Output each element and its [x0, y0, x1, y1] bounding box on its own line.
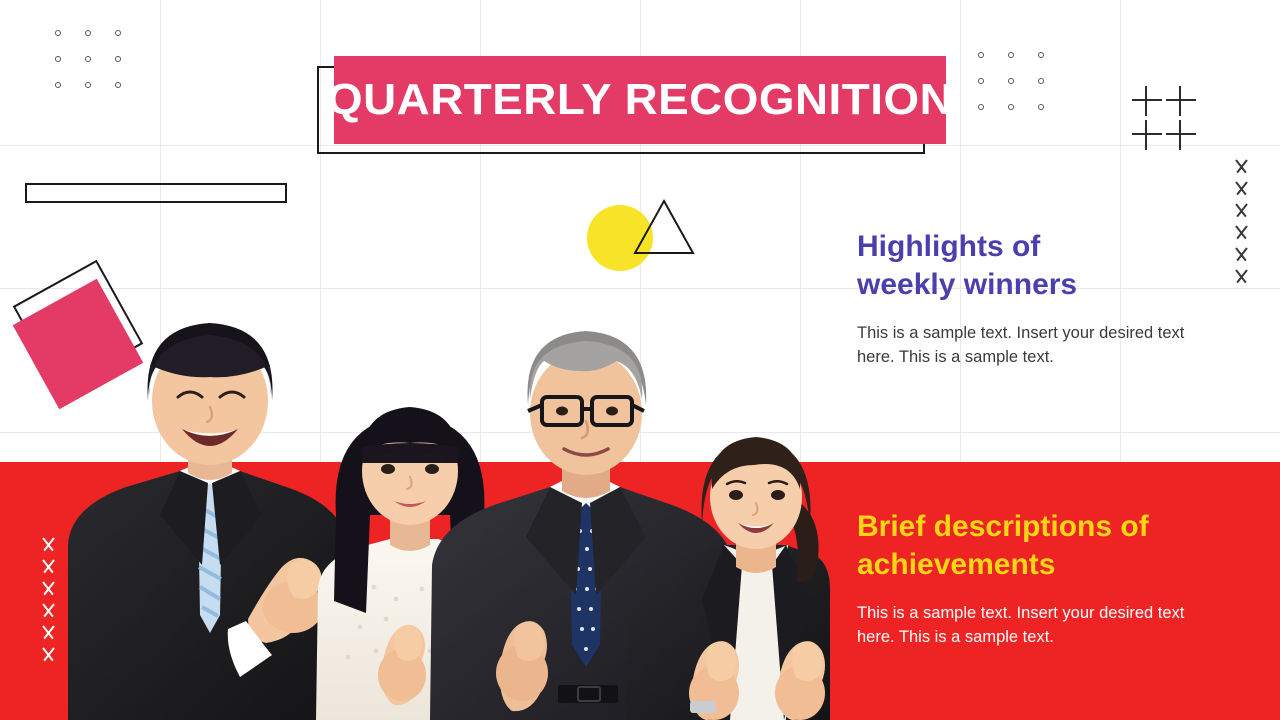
dot-icon — [115, 30, 121, 36]
plus-icon — [1166, 120, 1196, 150]
chevron-up-icon — [36, 604, 60, 616]
chevron-up-icon — [1229, 248, 1253, 260]
chevron-stack-icon — [36, 538, 60, 670]
highlights-heading-line2: weekly winners — [857, 268, 1077, 301]
dot-icon — [55, 56, 61, 62]
chevron-up-icon — [36, 648, 60, 660]
slide-canvas: QUARTERLY RECOGNITION Highlights of week… — [0, 0, 1280, 720]
chevron-up-icon — [36, 626, 60, 638]
highlights-body: This is a sample text. Insert your desir… — [857, 322, 1197, 369]
dot-icon — [978, 104, 984, 110]
plus-icon — [1132, 86, 1162, 116]
dot-icon — [55, 82, 61, 88]
dot-icon — [85, 56, 91, 62]
plus-marks-icon — [1132, 86, 1200, 154]
dot-icon — [978, 52, 984, 58]
page-title: QUARTERLY RECOGNITION — [327, 75, 953, 125]
dot-icon — [1008, 52, 1014, 58]
dot-icon — [85, 82, 91, 88]
dot-grid-icon — [978, 52, 1068, 130]
chevron-up-icon — [1229, 182, 1253, 194]
dot-icon — [1008, 78, 1014, 84]
outlined-rectangle-shape — [25, 183, 287, 203]
achievements-heading: Brief descriptions of achievements — [857, 508, 1197, 584]
team-photo — [30, 215, 830, 720]
highlights-heading: Highlights of weekly winners — [857, 228, 1197, 304]
chevron-up-icon — [1229, 226, 1253, 238]
achievements-body: This is a sample text. Insert your desir… — [857, 602, 1197, 649]
highlights-section: Highlights of weekly winners This is a s… — [857, 228, 1197, 369]
chevron-up-icon — [36, 538, 60, 550]
chevron-up-icon — [36, 560, 60, 572]
dot-icon — [1008, 104, 1014, 110]
dot-icon — [115, 82, 121, 88]
dot-icon — [1038, 78, 1044, 84]
chevron-up-icon — [36, 582, 60, 594]
achievements-section: Brief descriptions of achievements This … — [857, 508, 1197, 649]
dot-icon — [55, 30, 61, 36]
dot-icon — [1038, 52, 1044, 58]
dot-icon — [115, 56, 121, 62]
plus-icon — [1166, 86, 1196, 116]
dot-icon — [1038, 104, 1044, 110]
chevron-up-icon — [1229, 160, 1253, 172]
title-banner: QUARTERLY RECOGNITION — [334, 56, 946, 144]
achievements-heading-line2: achievements — [857, 548, 1055, 581]
highlights-heading-line1: Highlights of — [857, 230, 1040, 263]
chevron-up-icon — [1229, 204, 1253, 216]
chevron-stack-icon — [1229, 160, 1253, 292]
plus-icon — [1132, 120, 1162, 150]
achievements-heading-line1: Brief descriptions of — [857, 510, 1149, 543]
dot-icon — [978, 78, 984, 84]
chevron-up-icon — [1229, 270, 1253, 282]
dot-grid-icon — [55, 30, 145, 108]
dot-icon — [85, 30, 91, 36]
